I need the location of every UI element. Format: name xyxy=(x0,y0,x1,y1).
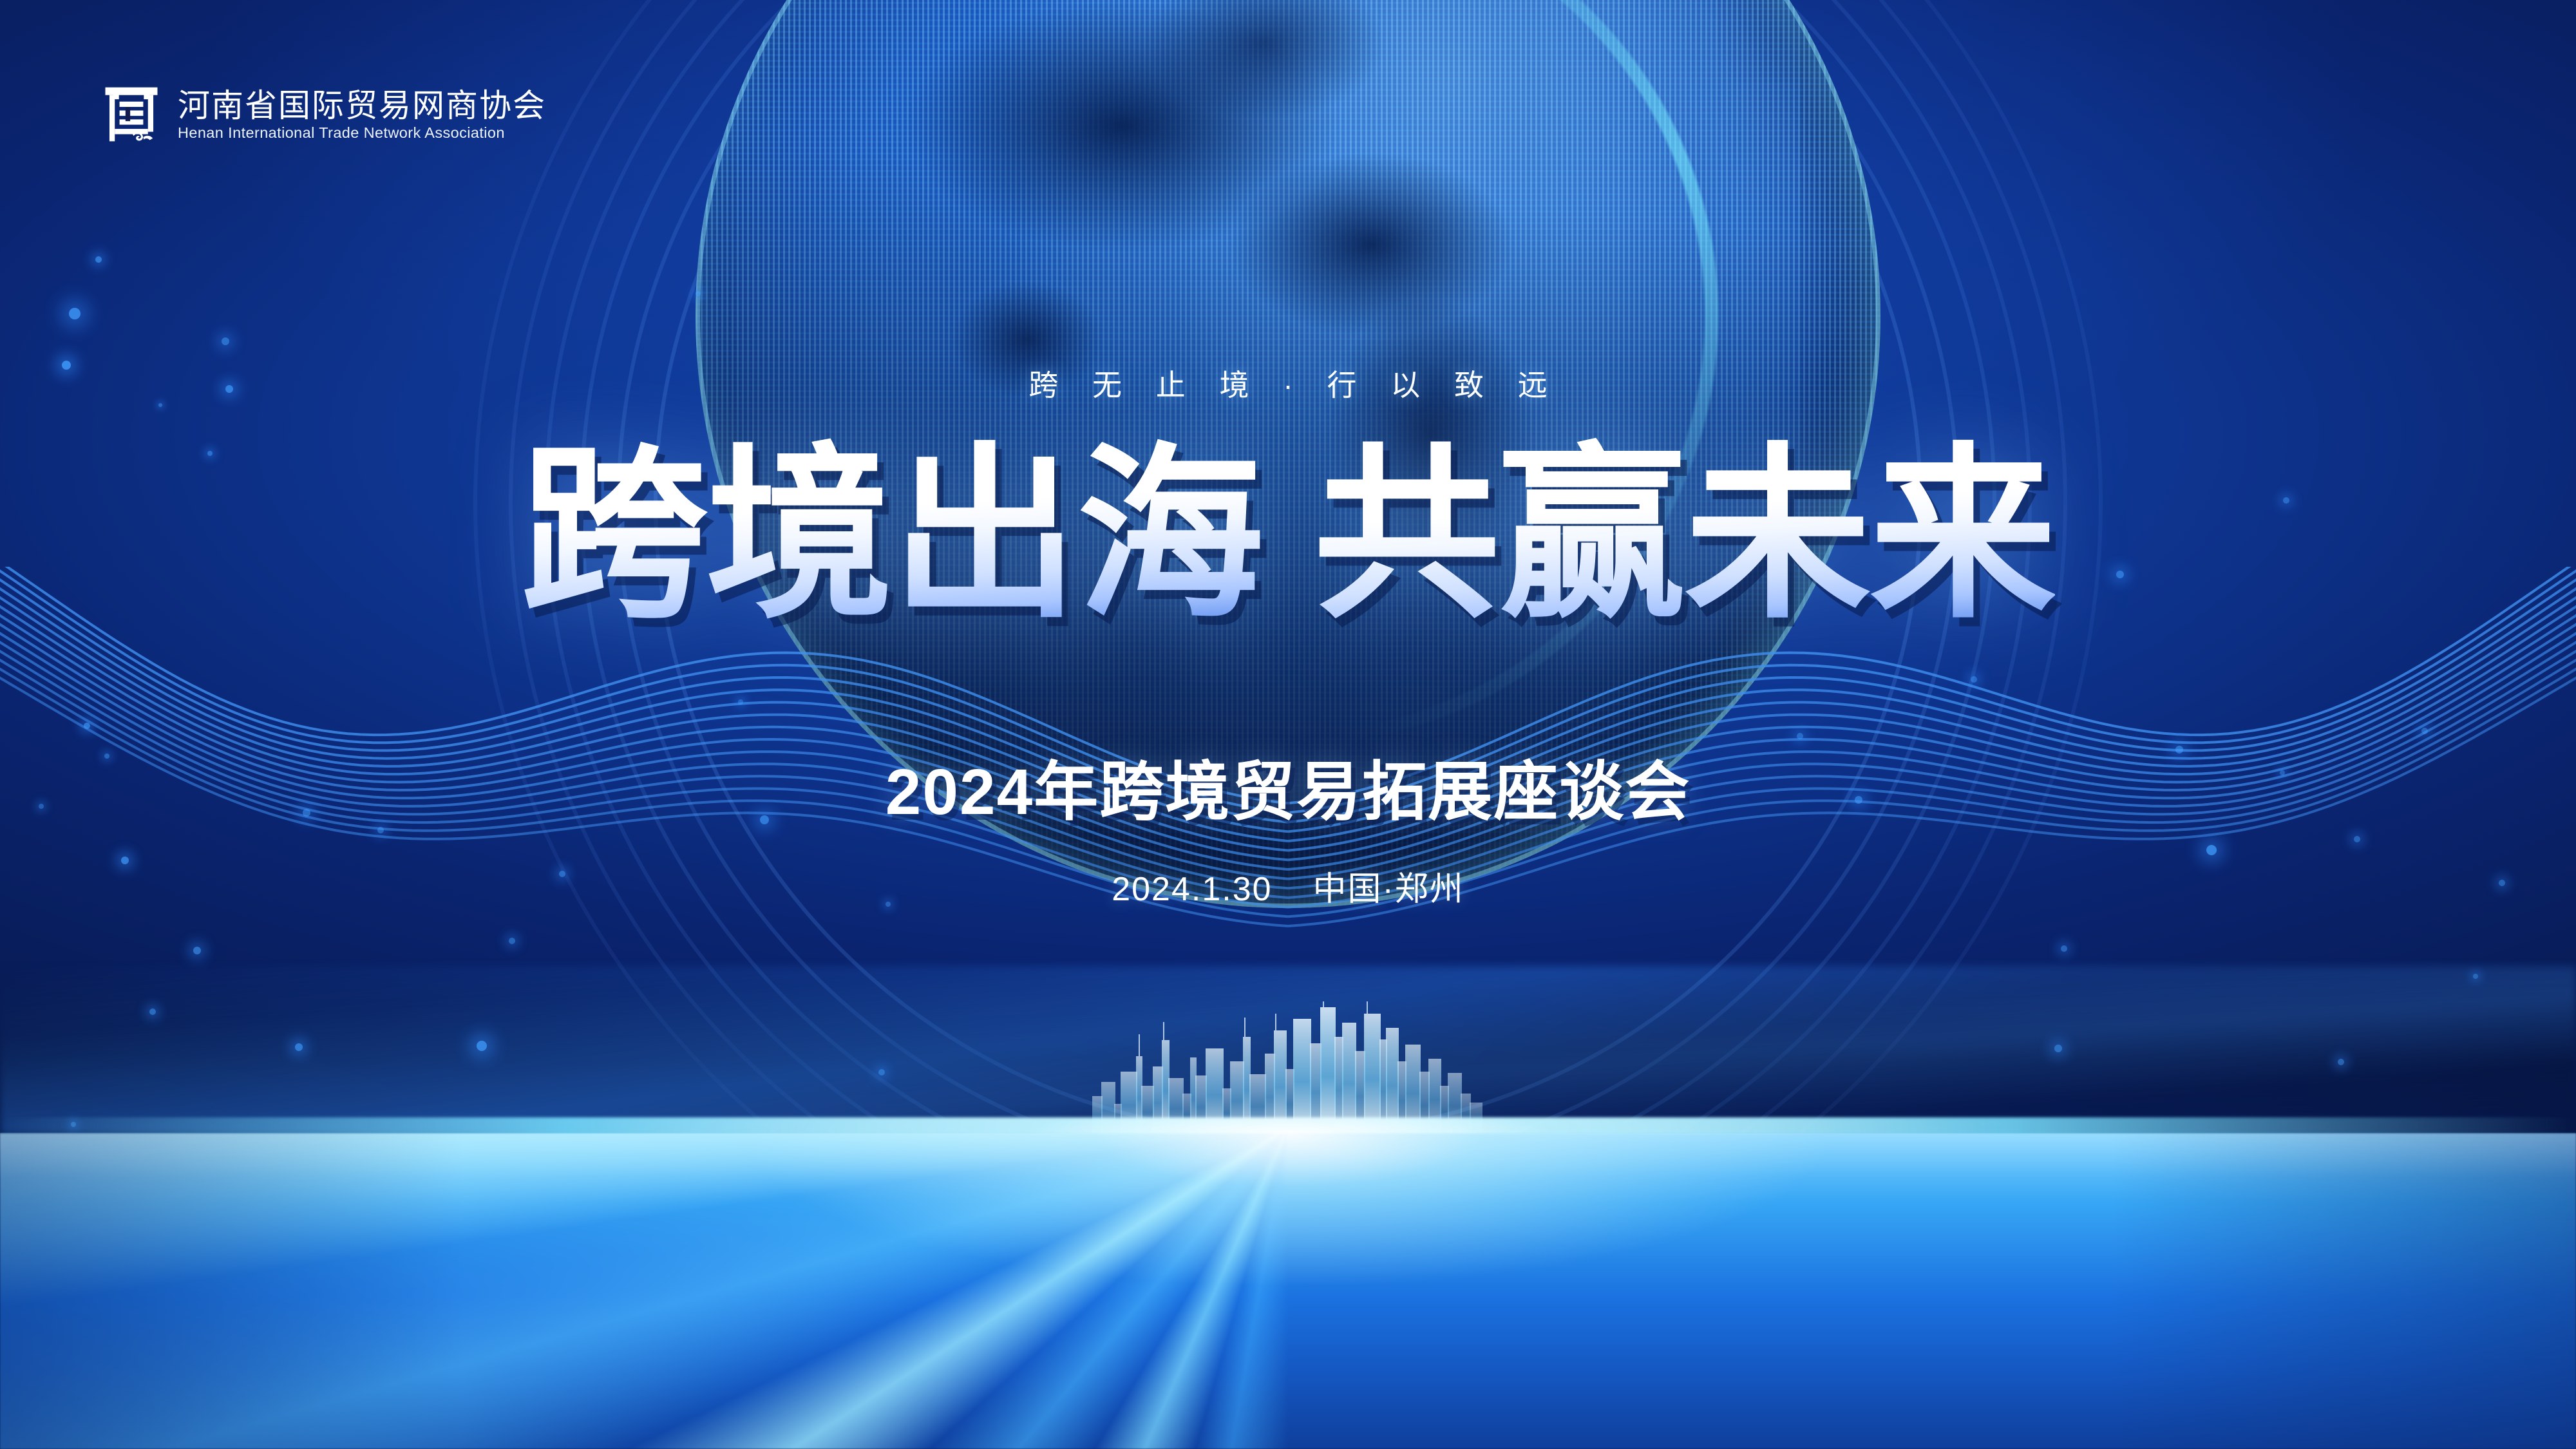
event-subtitle: 2024年跨境贸易拓展座谈会 xyxy=(0,739,2576,833)
building-antenna xyxy=(1275,1014,1276,1030)
glow-particle xyxy=(193,947,201,954)
building-antenna xyxy=(1367,1001,1368,1014)
seal-script-emblem-icon xyxy=(102,84,161,146)
building-antenna xyxy=(1163,1022,1164,1040)
glow-particle xyxy=(95,256,102,263)
city-building xyxy=(1320,1007,1336,1133)
glow-particle xyxy=(2354,836,2360,842)
building-antenna xyxy=(1244,1018,1245,1037)
event-dateline: 2024.1.30 中国·郑州 xyxy=(0,862,2576,910)
glow-particle xyxy=(84,723,90,729)
glow-particle xyxy=(2421,728,2428,734)
org-name-cn: 河南省国际贸易网商协会 xyxy=(178,89,546,123)
poster-canvas: 河南省国际贸易网商协会 Henan International Trade Ne… xyxy=(0,0,2576,1449)
ground-vignette xyxy=(0,1133,2576,1449)
headline-part-1: 跨境出海 xyxy=(521,431,1263,639)
building-antenna xyxy=(1323,1001,1324,1007)
building-antenna xyxy=(1139,1034,1140,1056)
org-name-en: Henan International Trade Network Associ… xyxy=(178,126,546,141)
event-tagline: 跨 无 止 境 · 行 以 致 远 xyxy=(0,362,2576,404)
event-date: 2024.1.30 xyxy=(1112,871,1272,908)
event-location: 中国·郑州 xyxy=(1312,871,1464,908)
glow-particle xyxy=(222,337,229,345)
city-skyline-icon xyxy=(1088,1001,1488,1133)
city-building xyxy=(1364,1014,1381,1133)
page-title: 跨境出海 共赢未来 xyxy=(0,442,2576,629)
association-logo[interactable]: 河南省国际贸易网商协会 Henan International Trade Ne… xyxy=(102,84,546,146)
headline-part-2: 共赢未来 xyxy=(1313,431,2055,639)
city-building xyxy=(1293,1019,1311,1133)
glow-particle xyxy=(2206,845,2217,855)
glow-particle xyxy=(69,308,80,319)
